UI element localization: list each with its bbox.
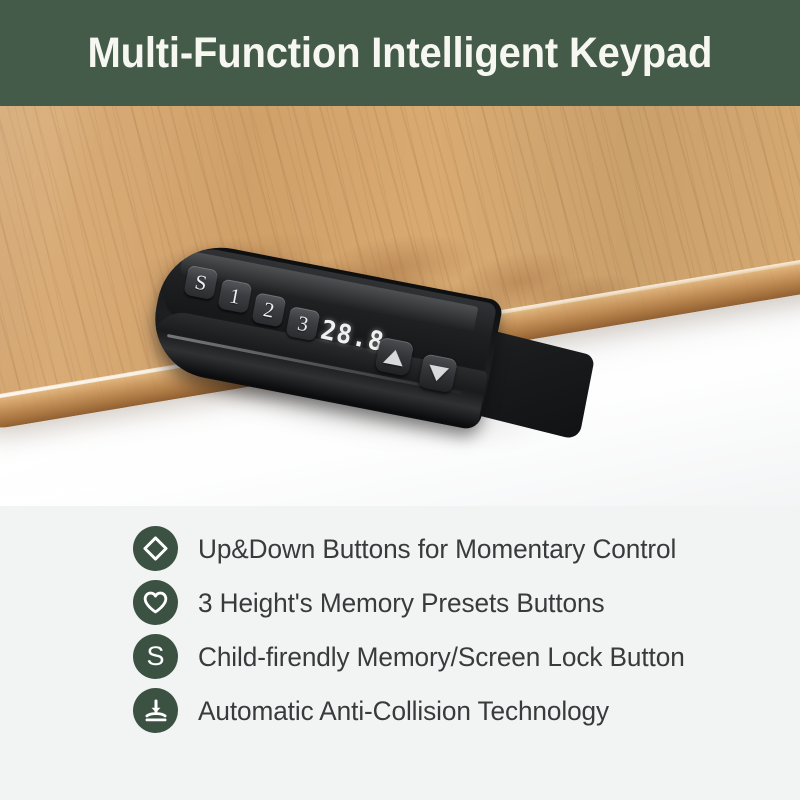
header-banner: Multi-Function Intelligent Keypad: [0, 0, 800, 106]
down-arrow-button[interactable]: [418, 353, 458, 393]
memory-key-2[interactable]: 2: [251, 292, 286, 327]
page-title: Multi-Function Intelligent Keypad: [88, 29, 713, 78]
down-triangle-icon: [427, 364, 449, 383]
product-feature-graphic: Multi-Function Intelligent Keypad S: [0, 0, 800, 800]
product-photo: S 1 2 3 28.8: [0, 106, 800, 506]
heart-outline-icon: [133, 580, 178, 625]
feature-item-screen-lock: S Child-firendly Memory/Screen Lock Butt…: [0, 630, 800, 684]
up-arrow-button[interactable]: [374, 337, 414, 377]
feature-item-updown: Up&Down Buttons for Momentary Control: [0, 522, 800, 576]
feature-label: 3 Height's Memory Presets Buttons: [198, 588, 604, 619]
feature-label: Child-firendly Memory/Screen Lock Button: [198, 642, 685, 673]
memory-key-3[interactable]: 3: [285, 306, 320, 341]
letter-s-icon: S: [133, 634, 178, 679]
feature-list: Up&Down Buttons for Momentary Control 3 …: [0, 506, 800, 800]
feature-item-memory-presets: 3 Height's Memory Presets Buttons: [0, 576, 800, 630]
memory-key-1[interactable]: 1: [217, 279, 252, 314]
up-triangle-icon: [383, 347, 405, 366]
memory-key-s[interactable]: S: [183, 265, 218, 300]
letter-s-glyph: S: [146, 643, 164, 670]
diamond-outline-icon: [133, 526, 178, 571]
download-press-icon: [133, 688, 178, 733]
feature-label: Automatic Anti-Collision Technology: [198, 696, 609, 727]
feature-item-anti-collision: Automatic Anti-Collision Technology: [0, 684, 800, 738]
feature-label: Up&Down Buttons for Momentary Control: [198, 534, 676, 565]
